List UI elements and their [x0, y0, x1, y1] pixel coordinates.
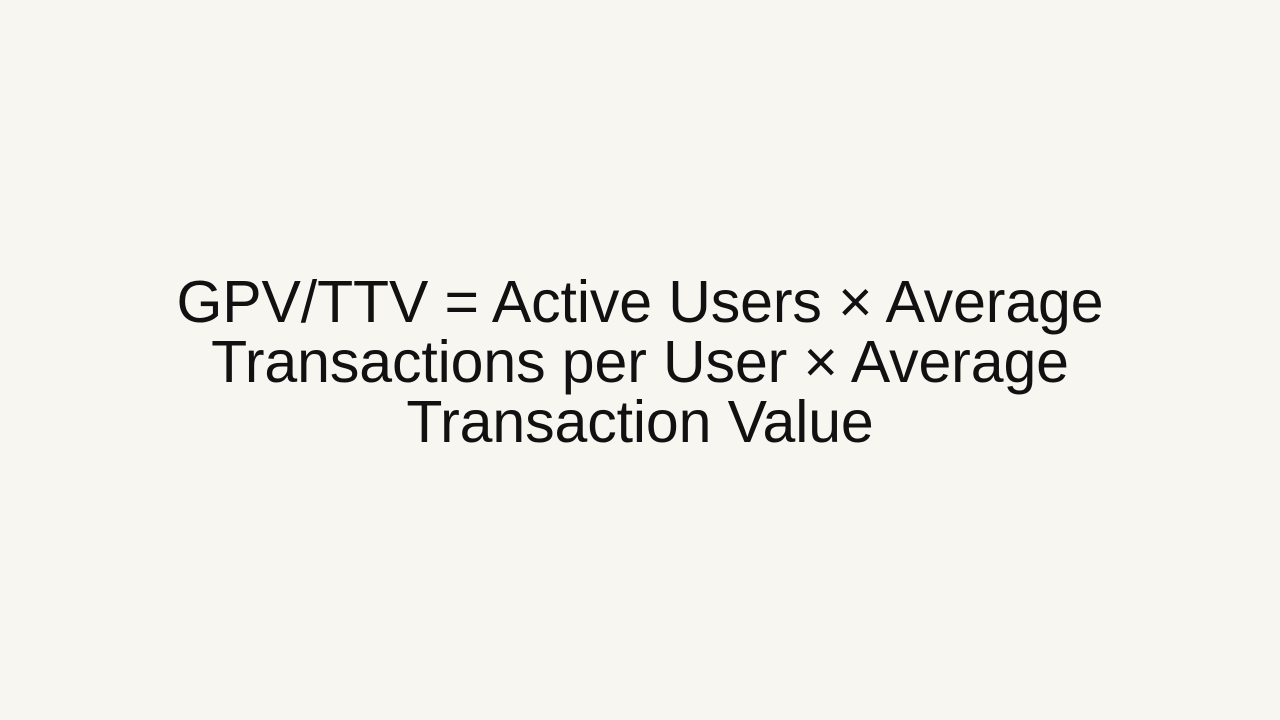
formula-equation-text: GPV/TTV = Active Users × Average Transac… [133, 272, 1147, 452]
formula-block: GPV/TTV = Active Users × Average Transac… [133, 272, 1147, 452]
slide-canvas: GPV/TTV = Active Users × Average Transac… [0, 0, 1280, 720]
